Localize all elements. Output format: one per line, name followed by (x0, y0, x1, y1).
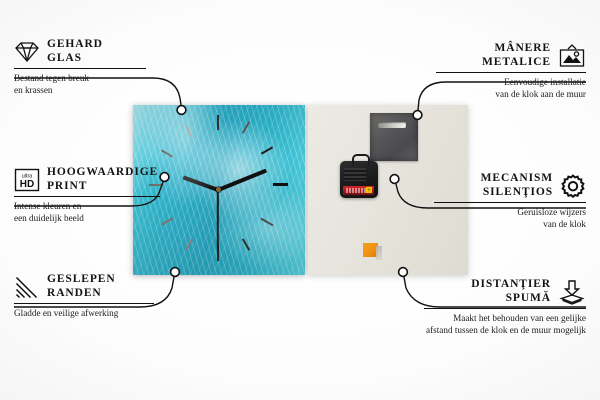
clock-minute-hand (217, 168, 267, 191)
clock-tick (242, 121, 250, 133)
feature-desc-line1: Intense kleuren en (14, 201, 214, 213)
feature-title: GEHARD GLAS (47, 38, 103, 65)
feature-divider (14, 196, 160, 197)
metal-hanger-plate (370, 113, 418, 161)
picture-hanger-icon (558, 43, 586, 69)
clock-tick (242, 238, 250, 250)
feature-header: GEHARD GLAS (14, 38, 214, 65)
feature-desc-line2: van de klok aan de muur (436, 89, 586, 101)
feature-title-line1: MÂNERE (494, 42, 551, 56)
foam-spacer-pad (363, 243, 378, 257)
beveled-edge-icon (14, 275, 40, 299)
feature-title-line2: SPUMĂ (506, 292, 551, 306)
feature-title: MÂNERE METALICE (482, 42, 551, 69)
feature-title-line1: HOOGWAARDIGE (47, 166, 158, 180)
feature-divider (424, 308, 586, 309)
feature-title: MECANISM SILENŢIOS (481, 172, 553, 199)
feature-title-line1: MECANISM (481, 172, 553, 186)
feature-title: DISTANŢIER SPUMĂ (471, 278, 551, 305)
clock-tick (161, 149, 173, 157)
feature-header: ultra HD HOOGWAARDIGE PRINT (14, 166, 214, 193)
mechanism-hanger-loop (352, 154, 370, 166)
aa-battery: + (343, 186, 374, 195)
feature-title-line1: DISTANŢIER (471, 278, 551, 292)
hanger-keyhole-slot (378, 122, 406, 128)
feature-title-line2: PRINT (47, 180, 158, 194)
feature-foam-spacer: DISTANŢIER SPUMĂ Maakt het behouden van … (424, 278, 586, 336)
mechanism-detail (344, 168, 366, 181)
battery-plus-terminal: + (366, 187, 372, 193)
feature-header: MECANISM SILENŢIOS (434, 172, 586, 199)
clock-tick (260, 218, 273, 227)
quartz-mechanism-box: + (340, 161, 378, 198)
feature-silent-mechanism: MECANISM SILENŢIOS Geruisloze wijzers va… (434, 172, 586, 230)
feature-title-line2: GLAS (47, 52, 103, 66)
infographic-canvas: + (0, 0, 600, 400)
ultra-hd-icon: ultra HD (14, 168, 40, 192)
feature-metal-hangers: MÂNERE METALICE Eenvoudige installatie v… (436, 42, 586, 100)
diamond-icon (14, 40, 40, 64)
feature-title-line1: GEHARD (47, 38, 103, 52)
feature-desc-line1: Maakt het behouden van een gelijke (424, 313, 586, 325)
feature-title: GESLEPEN RANDEN (47, 273, 116, 300)
feature-divider (434, 202, 586, 203)
feature-desc-line2: afstand tussen de klok en de muur mogeli… (424, 325, 586, 337)
feature-desc-line2: van de klok (434, 219, 586, 231)
feature-header: GESLEPEN RANDEN (14, 273, 224, 300)
clock-tick (185, 238, 193, 250)
foam-spacer-icon (558, 279, 586, 305)
feature-title-line1: GESLEPEN (47, 273, 116, 287)
clock-tick (217, 115, 219, 130)
feature-desc-line1: Bestand tegen breuk (14, 73, 214, 85)
battery-label (346, 188, 366, 193)
feature-desc-line1: Geruisloze wijzers (434, 207, 586, 219)
feature-desc-line1: Gladde en veilige afwerking (14, 308, 224, 320)
clock-tick (273, 183, 288, 186)
gear-icon (560, 173, 586, 199)
feature-hd-print: ultra HD HOOGWAARDIGE PRINT Intense kleu… (14, 166, 214, 224)
clock-tick (217, 245, 219, 261)
feature-divider (14, 303, 154, 304)
clock-center-hub (216, 187, 221, 192)
feature-desc-line1: Eenvoudige installatie (436, 77, 586, 89)
feature-title-line2: RANDEN (47, 287, 116, 301)
feature-divider (14, 68, 146, 69)
feature-ground-edges: GESLEPEN RANDEN Gladde en veilige afwerk… (14, 273, 224, 320)
feature-title: HOOGWAARDIGE PRINT (47, 166, 158, 193)
feature-divider (436, 72, 586, 73)
clock-tick (261, 146, 273, 154)
svg-text:HD: HD (20, 179, 34, 190)
feature-desc-line2: en krassen (14, 85, 214, 97)
feature-tempered-glass: GEHARD GLAS Bestand tegen breuk en krass… (14, 38, 214, 96)
feature-header: DISTANŢIER SPUMĂ (424, 278, 586, 305)
feature-header: MÂNERE METALICE (436, 42, 586, 69)
clock-second-hand (217, 189, 219, 251)
feature-title-line2: SILENŢIOS (483, 186, 553, 200)
feature-desc-line2: een duidelijk beeld (14, 213, 214, 225)
clock-tick (185, 125, 193, 137)
feature-title-line2: METALICE (482, 56, 551, 70)
